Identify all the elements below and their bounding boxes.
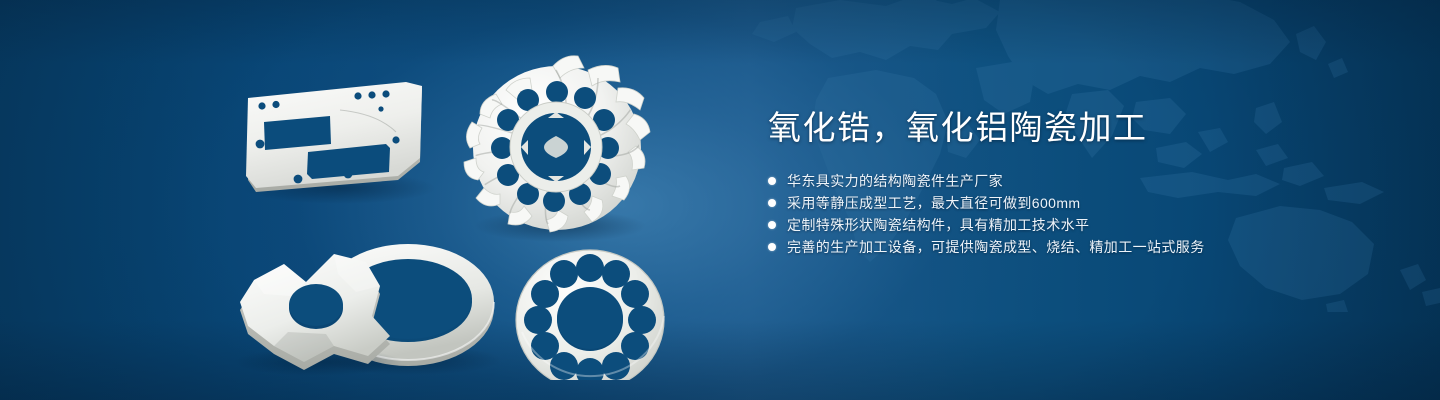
bullet-text: 定制特殊形状陶瓷结构件，具有精加工技术水平 [787, 214, 1089, 236]
bullet-text: 完善的生产加工设备，可提供陶瓷成型、烧结、精加工一站式服务 [787, 236, 1205, 258]
bullet-text: 华东具实力的结构陶瓷件生产厂家 [787, 170, 1003, 192]
ceramic-plate-part [244, 82, 436, 204]
ceramic-impeller-part [464, 56, 650, 242]
hero-banner: 氧化锆，氧化铝陶瓷加工 华东具实力的结构陶瓷件生产厂家 采用等静压成型工艺，最大… [0, 0, 1440, 400]
bullet-dot-icon [768, 177, 776, 185]
banner-headline: 氧化锆，氧化铝陶瓷加工 [768, 108, 1368, 148]
bullet-dot-icon [768, 243, 776, 251]
bullet-dot-icon [768, 221, 776, 229]
list-item: 华东具实力的结构陶瓷件生产厂家 [768, 170, 1368, 192]
list-item: 采用等静压成型工艺，最大直径可做到600mm [768, 192, 1368, 214]
bullet-dot-icon [768, 199, 776, 207]
list-item: 完善的生产加工设备，可提供陶瓷成型、烧结、精加工一站式服务 [768, 236, 1368, 258]
ceramic-perforated-disc-part [516, 250, 664, 380]
list-item: 定制特殊形状陶瓷结构件，具有精加工技术水平 [768, 214, 1368, 236]
banner-feature-list: 华东具实力的结构陶瓷件生产厂家 采用等静压成型工艺，最大直径可做到600mm 定… [768, 170, 1368, 258]
bullet-text: 采用等静压成型工艺，最大直径可做到600mm [787, 192, 1080, 214]
banner-copy: 氧化锆，氧化铝陶瓷加工 华东具实力的结构陶瓷件生产厂家 采用等静压成型工艺，最大… [768, 108, 1368, 258]
ceramic-products-image [230, 40, 710, 380]
